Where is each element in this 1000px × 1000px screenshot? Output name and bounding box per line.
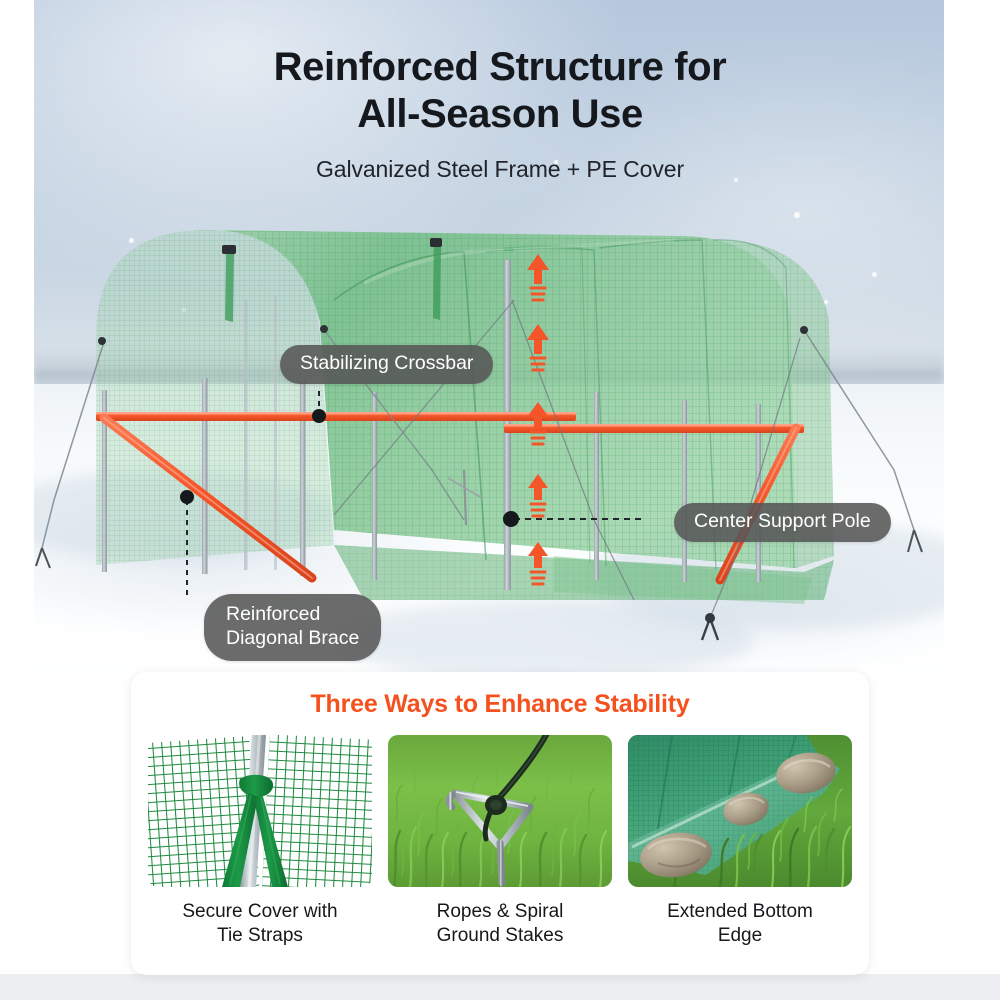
footer-strip [0,974,1000,1000]
tile-caption: Extended Bottom Edge [628,900,852,949]
feature-tile-bottom-edge: Extended Bottom Edge [628,735,852,949]
page-subtitle: Galvanized Steel Frame + PE Cover [0,156,1000,183]
callout-label: Stabilizing Crossbar [300,352,473,376]
product-infographic: Stabilizing Crossbar Center Support Pole… [0,0,1000,1000]
callout-label: Center Support Pole [694,510,871,534]
callout-stabilizing-crossbar: Stabilizing Crossbar [280,345,493,384]
page-title: Reinforced Structure for All-Season Use [0,44,1000,138]
stability-feature-card: Three Ways to Enhance Stability [131,672,869,975]
callout-reinforced-diagonal-brace: Reinforced Diagonal Brace [204,594,381,661]
callout-label: Reinforced Diagonal Brace [226,603,359,651]
black-dot-marker [312,409,326,423]
footer-margin-right [966,974,1000,1000]
thumbnail-bottom-edge [628,735,852,887]
black-dot-marker [180,490,194,504]
callout-center-support-pole: Center Support Pole [674,503,891,542]
tile-caption: Ropes & Spiral Ground Stakes [388,900,612,949]
thumbnail-ground-stakes [388,735,612,887]
green-mesh-tie-strap-image [148,735,372,887]
tile-caption: Secure Cover with Tie Straps [148,900,372,949]
feature-tile-tie-straps: Secure Cover with Tie Straps [148,735,372,949]
footer-margin-left [0,974,34,1000]
extended-bottom-edge-image [628,735,852,887]
black-dot-marker [503,511,519,527]
card-title: Three Ways to Enhance Stability [131,690,869,719]
feature-tiles: Secure Cover with Tie Straps [131,735,869,949]
title-line-1: Reinforced Structure for [0,44,1000,91]
thumbnail-tie-straps [148,735,372,887]
headline-block: Reinforced Structure for All-Season Use … [0,44,1000,183]
feature-tile-ground-stakes: Ropes & Spiral Ground Stakes [388,735,612,949]
title-line-2: All-Season Use [0,91,1000,138]
metal-ground-stake-image [388,735,612,887]
